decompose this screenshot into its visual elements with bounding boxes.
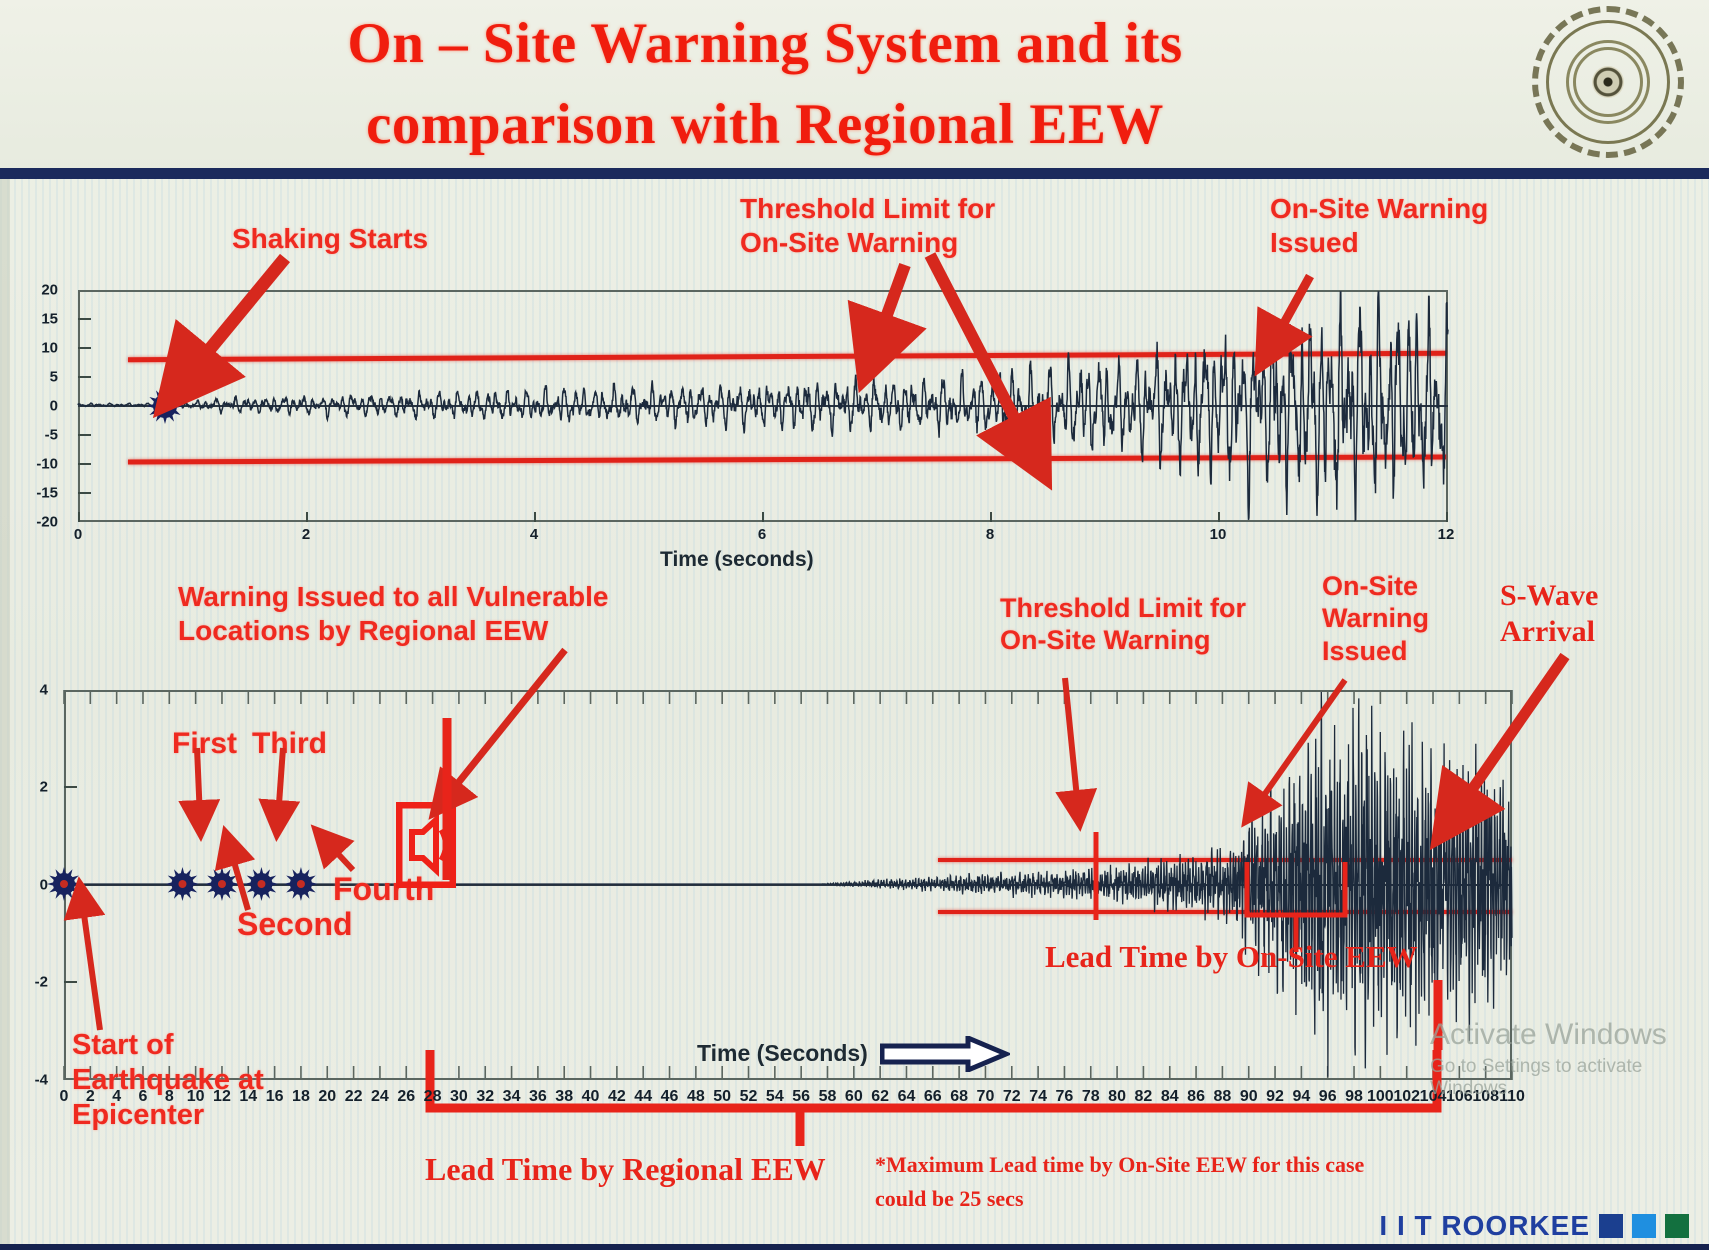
annotation-shaking-starts: Shaking Starts	[232, 222, 428, 256]
bottom-chart-x-tick: 32	[476, 1088, 494, 1106]
bottom-chart-x-tick: 18	[292, 1088, 310, 1106]
footer-square-3	[1665, 1214, 1689, 1238]
slide-bottom-bar	[0, 1244, 1709, 1250]
page-title-line2: comparison with Regional EEW	[150, 85, 1380, 166]
bottom-chart-x-tick: 20	[318, 1088, 336, 1106]
note-max-lead-time-line1: *Maximum Lead time by On-Site EEW for th…	[875, 1148, 1364, 1182]
iit-roorkee-emblem-icon	[1532, 6, 1684, 158]
annotation-start-of-earthquake: Start of Earthquake at Epicenter	[72, 1028, 264, 1132]
activate-windows-line2: Go to Settings to activate Windows.	[1430, 1056, 1709, 1100]
label-lead-time-regional: Lead Time by Regional EEW	[425, 1150, 826, 1188]
time-direction-arrow-icon	[880, 1036, 1010, 1072]
bottom-chart-x-tick: 64	[898, 1088, 916, 1106]
label-lead-time-onsite: Lead Time by On-Site EEW	[1045, 938, 1418, 975]
bottom-chart-x-tick: 10	[187, 1088, 205, 1106]
bottom-chart-x-tick: 94	[1292, 1088, 1310, 1106]
bottom-chart-x-tick: 86	[1187, 1088, 1205, 1106]
bottom-chart-x-tick: 70	[977, 1088, 995, 1106]
footer-square-2	[1632, 1214, 1656, 1238]
annotation-regional-warning: Warning Issued to all Vulnerable Locatio…	[178, 580, 608, 647]
bottom-chart-x-tick: 48	[687, 1088, 705, 1106]
annotation-regional-warning-line2: Locations by Regional EEW	[178, 614, 608, 648]
bottom-chart-x-tick: 72	[1003, 1088, 1021, 1106]
annotation-start-of-earthquake-line1: Start of	[72, 1028, 264, 1063]
bottom-chart-x-axis-label: Time (Seconds)	[697, 1040, 868, 1067]
annotation-threshold-limit-top-line1: Threshold Limit for	[740, 192, 995, 226]
annotation-onsite-warning-issued-bottom: On-Site Warning Issued	[1322, 570, 1429, 667]
annotation-onsite-warning-issued-top-line2: Issued	[1270, 226, 1488, 260]
activate-windows-line1: Activate Windows	[1430, 1018, 1709, 1052]
warning-speaker-icon	[396, 802, 456, 888]
bottom-chart-x-tick: 40	[582, 1088, 600, 1106]
bottom-chart-x-tick: 8	[165, 1088, 174, 1106]
bottom-chart-x-tick: 26	[397, 1088, 415, 1106]
bottom-chart-x-tick: 90	[1240, 1088, 1258, 1106]
annotation-threshold-limit-top: Threshold Limit for On-Site Warning	[740, 192, 995, 259]
top-chart-zero-line	[78, 405, 1448, 407]
bottom-chart-x-tick: 54	[766, 1088, 784, 1106]
activate-windows-watermark: Activate Windows Go to Settings to activ…	[1430, 1018, 1709, 1100]
bottom-chart-x-tick: 78	[1082, 1088, 1100, 1106]
bottom-chart-x-tick: 2	[86, 1088, 95, 1106]
note-max-lead-time-line2: could be 25 secs	[875, 1182, 1364, 1216]
bottom-chart-x-tick: 68	[950, 1088, 968, 1106]
annotation-onsite-warning-issued-bottom-line1: On-Site	[1322, 570, 1429, 602]
bottom-chart-x-tick: 0	[60, 1088, 69, 1106]
bottom-chart-threshold-lower	[938, 910, 1512, 914]
annotation-threshold-limit-bottom-line1: Threshold Limit for	[1000, 592, 1246, 624]
bottom-chart-x-tick: 44	[634, 1088, 652, 1106]
label-first: First	[172, 726, 237, 762]
bottom-chart-x-tick: 84	[1161, 1088, 1179, 1106]
page-title: On – Site Warning System and its compari…	[150, 4, 1380, 166]
annotation-threshold-limit-bottom: Threshold Limit for On-Site Warning	[1000, 592, 1246, 657]
annotation-onsite-warning-issued-bottom-line2: Warning	[1322, 602, 1429, 634]
bottom-chart-x-tick: 58	[819, 1088, 837, 1106]
bottom-chart-x-tick: 14	[239, 1088, 257, 1106]
slide-header: On – Site Warning System and its compari…	[0, 0, 1709, 172]
bottom-chart-x-tick: 60	[845, 1088, 863, 1106]
top-chart: Shaking Starts Threshold Limit for On-Si…	[0, 180, 1709, 580]
bottom-chart-x-tick: 50	[713, 1088, 731, 1106]
bottom-chart-x-tick: 82	[1135, 1088, 1153, 1106]
bottom-chart-threshold-upper	[938, 858, 1512, 862]
bottom-chart: Warning Issued to all Vulnerable Locatio…	[0, 580, 1709, 1250]
annotation-s-wave-arrival-line1: S-Wave	[1500, 578, 1598, 614]
bottom-chart-x-tick: 42	[608, 1088, 626, 1106]
annotation-s-wave-arrival: S-Wave Arrival	[1500, 578, 1598, 650]
bottom-chart-x-tick: 46	[661, 1088, 679, 1106]
bottom-chart-x-tick: 22	[345, 1088, 363, 1106]
annotation-threshold-limit-top-line2: On-Site Warning	[740, 226, 995, 260]
bottom-chart-x-tick: 12	[213, 1088, 231, 1106]
bottom-chart-x-tick: 24	[371, 1088, 389, 1106]
bottom-chart-x-tick: 76	[1056, 1088, 1074, 1106]
annotation-onsite-warning-issued-bottom-line3: Issued	[1322, 635, 1429, 667]
bottom-chart-x-tick: 36	[529, 1088, 547, 1106]
shaking-start-marker-icon	[146, 387, 184, 425]
annotation-onsite-warning-issued-top-line1: On-Site Warning	[1270, 192, 1488, 226]
bottom-chart-x-tick: 28	[424, 1088, 442, 1106]
annotation-s-wave-arrival-line2: Arrival	[1500, 614, 1598, 650]
bottom-chart-x-tick: 52	[740, 1088, 758, 1106]
bottom-chart-x-tick: 98	[1345, 1088, 1363, 1106]
bottom-chart-x-tick: 16	[266, 1088, 284, 1106]
bottom-chart-x-tick: 74	[1029, 1088, 1047, 1106]
bottom-chart-x-tick: 102	[1393, 1088, 1420, 1106]
iit-roorkee-brand: I I T ROORKEE	[1379, 1210, 1590, 1242]
page-title-line1: On – Site Warning System and its	[150, 4, 1380, 85]
bottom-chart-x-tick: 66	[924, 1088, 942, 1106]
top-chart-x-axis-label: Time (seconds)	[660, 548, 814, 572]
label-second: Second	[237, 905, 353, 943]
label-third: Third	[252, 726, 327, 762]
bottom-chart-x-tick: 92	[1266, 1088, 1284, 1106]
bottom-chart-x-tick: 30	[450, 1088, 468, 1106]
bottom-chart-x-tick: 88	[1213, 1088, 1231, 1106]
bottom-chart-x-tick: 96	[1319, 1088, 1337, 1106]
note-max-lead-time: *Maximum Lead time by On-Site EEW for th…	[875, 1148, 1364, 1216]
bottom-chart-x-tick: 80	[1108, 1088, 1126, 1106]
footer-square-1	[1599, 1214, 1623, 1238]
bottom-chart-x-tick: 56	[792, 1088, 810, 1106]
bottom-chart-x-tick: 34	[503, 1088, 521, 1106]
annotation-threshold-limit-bottom-line2: On-Site Warning	[1000, 624, 1246, 656]
bottom-chart-x-tick: 100	[1367, 1088, 1394, 1106]
header-divider	[0, 168, 1709, 179]
bottom-chart-x-tick: 4	[112, 1088, 121, 1106]
bottom-chart-x-tick: 6	[139, 1088, 148, 1106]
iit-roorkee-footer: I I T ROORKEE	[1379, 1210, 1689, 1242]
bottom-chart-x-tick: 38	[555, 1088, 573, 1106]
annotation-onsite-warning-issued-top: On-Site Warning Issued	[1270, 192, 1488, 259]
annotation-regional-warning-line1: Warning Issued to all Vulnerable	[178, 580, 608, 614]
bottom-chart-x-tick: 62	[871, 1088, 889, 1106]
slide-canvas: On – Site Warning System and its compari…	[0, 0, 1709, 1250]
bottom-chart-zero-line	[64, 884, 1512, 886]
